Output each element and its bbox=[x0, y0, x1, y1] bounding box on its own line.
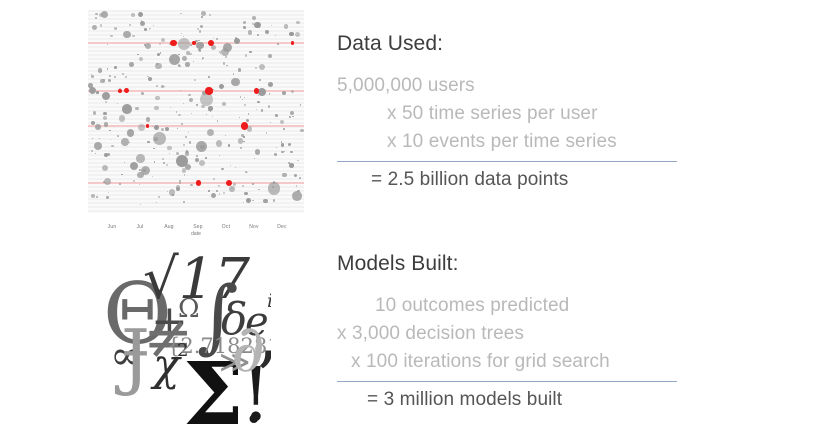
scatter-point bbox=[117, 103, 118, 104]
scatter-point bbox=[238, 138, 243, 143]
scatter-point bbox=[109, 75, 111, 77]
dot-symbol-glyph: • bbox=[245, 406, 263, 436]
scatter-point bbox=[105, 101, 107, 103]
scatter-point bbox=[189, 141, 192, 144]
scatter-point bbox=[161, 38, 165, 42]
scatter-point bbox=[244, 192, 248, 196]
scatter-point bbox=[186, 51, 190, 55]
scatter-point bbox=[289, 32, 293, 36]
data-used-sum-rule bbox=[337, 161, 677, 162]
scatter-point bbox=[166, 164, 168, 166]
models-built-total: = 3 million models built bbox=[337, 386, 677, 414]
axis-tick-label: Oct bbox=[222, 224, 230, 230]
scatter-point-anomaly bbox=[170, 40, 176, 46]
axis-tick-label: Jun bbox=[108, 224, 117, 230]
scatter-point bbox=[219, 155, 220, 156]
scatter-point bbox=[257, 101, 259, 103]
scatter-point bbox=[282, 91, 286, 95]
scatter-point bbox=[156, 202, 157, 203]
scatter-point bbox=[95, 124, 101, 130]
scatter-point bbox=[292, 116, 293, 117]
scatter-point bbox=[144, 28, 147, 31]
scatter-point bbox=[107, 68, 108, 69]
scatter-point bbox=[231, 78, 240, 87]
models-built-line-list: 10 outcomes predicted x 3,000 decision t… bbox=[337, 292, 677, 376]
scatter-point bbox=[181, 123, 183, 125]
scatter-point bbox=[158, 196, 160, 198]
scatter-point bbox=[129, 62, 134, 67]
scatter-point bbox=[91, 150, 93, 152]
scatter-point bbox=[107, 44, 108, 45]
scatter-point bbox=[117, 135, 119, 137]
scatter-point bbox=[282, 173, 287, 178]
scatter-point bbox=[258, 88, 266, 96]
scatter-point bbox=[213, 178, 215, 180]
scatter-point bbox=[247, 172, 248, 173]
scatter-point bbox=[101, 11, 109, 19]
scatter-point bbox=[225, 56, 227, 58]
scatter-point bbox=[200, 25, 204, 29]
scatter-point bbox=[176, 111, 177, 112]
scatter-point bbox=[229, 186, 235, 192]
scatter-point bbox=[185, 62, 190, 67]
scatter-point-anomaly bbox=[208, 40, 214, 46]
scatter-point bbox=[275, 114, 278, 117]
scatter-point bbox=[180, 13, 181, 14]
scatter-point bbox=[159, 43, 161, 45]
scatter-point bbox=[233, 73, 235, 75]
scatter-point bbox=[201, 16, 203, 18]
scatter-point bbox=[228, 144, 231, 147]
scatter-point-anomaly bbox=[209, 89, 213, 93]
calc-line: 10 outcomes predicted bbox=[337, 292, 677, 320]
scatter-point bbox=[176, 152, 179, 155]
scatter-point bbox=[119, 115, 126, 122]
scatter-point bbox=[216, 190, 217, 191]
models-built-title: Models Built: bbox=[337, 252, 677, 276]
j-bar-symbol-glyph: Ɉ bbox=[121, 320, 150, 392]
scatter-point bbox=[114, 76, 116, 78]
calc-line: x 3,000 decision trees bbox=[337, 320, 677, 348]
scatter-point bbox=[196, 141, 207, 152]
scatter-point bbox=[272, 186, 274, 188]
scatter-point bbox=[102, 92, 110, 100]
scatter-point bbox=[208, 76, 210, 78]
scatter-point bbox=[198, 49, 200, 51]
scatter-point bbox=[119, 183, 121, 185]
i-pi-exponent-glyph: iπ bbox=[267, 292, 271, 311]
axis-tick-label: Nov bbox=[249, 224, 259, 230]
scatter-highlight-row bbox=[88, 125, 304, 127]
scatter-point bbox=[218, 185, 220, 187]
scatter-point bbox=[108, 192, 109, 193]
calc-line: x 100 iterations for grid search bbox=[337, 348, 677, 376]
scatter-point bbox=[276, 147, 277, 148]
scatter-point-anomaly bbox=[196, 180, 201, 185]
calc-line: x 10 events per time series bbox=[337, 128, 677, 156]
scatter-point bbox=[300, 129, 304, 133]
scatter-point bbox=[296, 21, 300, 25]
scatter-point bbox=[98, 68, 102, 72]
scatter-point bbox=[183, 201, 185, 203]
scatter-point bbox=[217, 120, 218, 121]
scatter-point bbox=[268, 105, 270, 107]
scatter-point bbox=[281, 143, 284, 146]
scatter-point bbox=[178, 64, 179, 65]
scatter-point bbox=[288, 162, 290, 164]
scatter-point bbox=[271, 25, 272, 26]
scatter-point bbox=[143, 169, 146, 172]
scatter-point bbox=[176, 187, 180, 191]
scatter-point bbox=[155, 96, 160, 101]
scatter-point bbox=[212, 116, 213, 117]
scatter-point bbox=[190, 184, 193, 187]
scatter-point bbox=[249, 51, 252, 54]
scatter-point bbox=[96, 91, 99, 94]
scatter-point bbox=[266, 132, 267, 133]
scatter-point bbox=[242, 185, 244, 187]
scatter-point bbox=[201, 11, 206, 16]
scatter-point bbox=[292, 191, 302, 201]
scatter-point bbox=[182, 56, 187, 61]
scatter-point bbox=[154, 161, 155, 162]
scatter-point bbox=[136, 154, 144, 162]
scatter-point bbox=[184, 174, 186, 176]
scatter-point bbox=[132, 35, 135, 38]
scatter-point bbox=[295, 32, 300, 37]
time-series-scatter-thumbnail bbox=[88, 10, 304, 213]
data-used-title: Data Used: bbox=[337, 32, 677, 56]
scatter-point bbox=[141, 92, 144, 95]
scatter-point bbox=[221, 48, 229, 56]
data-used-line-list: 5,000,000 users x 50 time series per use… bbox=[337, 72, 677, 156]
scatter-point bbox=[103, 116, 107, 120]
axis-tick-label: Sep bbox=[193, 224, 203, 230]
scatter-point bbox=[205, 157, 207, 159]
scatter-point bbox=[122, 73, 124, 75]
scatter-x-axis: Jun Jul Aug Sep Oct Nov Dec date bbox=[88, 224, 304, 246]
scatter-point bbox=[196, 155, 198, 157]
scatter-point bbox=[221, 168, 224, 171]
scatter-point bbox=[167, 146, 172, 151]
calc-line: 5,000,000 users bbox=[337, 72, 677, 100]
models-built-sum-rule bbox=[337, 381, 677, 382]
scatter-point bbox=[129, 24, 131, 26]
scatter-point-anomaly bbox=[241, 122, 249, 130]
scatter-point bbox=[138, 124, 145, 131]
scatter-point-anomaly bbox=[192, 41, 196, 45]
scatter-point bbox=[299, 177, 301, 179]
scatter-point bbox=[178, 114, 180, 116]
scatter-point bbox=[148, 77, 152, 81]
scatter-point bbox=[268, 82, 273, 87]
calc-line: x 50 time series per user bbox=[337, 100, 677, 128]
data-used-block: Data Used: 5,000,000 users x 50 time ser… bbox=[337, 32, 677, 194]
scatter-point bbox=[268, 182, 281, 195]
scatter-point bbox=[284, 24, 289, 29]
scatter-point bbox=[265, 30, 269, 34]
axis-tick-label: Dec bbox=[277, 224, 287, 230]
scatter-point bbox=[146, 117, 151, 122]
scatter-point-anomaly bbox=[291, 41, 294, 44]
scatter-point bbox=[223, 62, 226, 65]
scatter-point bbox=[123, 31, 130, 38]
scatter-point bbox=[154, 125, 159, 130]
scatter-point bbox=[94, 142, 102, 150]
scatter-point bbox=[296, 185, 298, 187]
scatter-point bbox=[178, 38, 190, 50]
scatter-point bbox=[196, 104, 197, 105]
scatter-point bbox=[261, 109, 264, 112]
scatter-point bbox=[291, 90, 294, 93]
scatter-point-anomaly bbox=[254, 88, 260, 94]
scatter-point bbox=[208, 190, 210, 192]
axis-title-date: date bbox=[191, 231, 201, 237]
scatter-point bbox=[290, 151, 292, 153]
scatter-point bbox=[133, 180, 134, 181]
data-used-total: = 2.5 billion data points bbox=[337, 166, 677, 194]
scatter-point bbox=[122, 104, 132, 114]
slide-canvas: Jun Jul Aug Sep Oct Nov Dec date Θ √17 +… bbox=[0, 0, 820, 446]
scatter-point bbox=[222, 102, 226, 106]
scatter-point bbox=[202, 58, 204, 60]
scatter-point bbox=[188, 94, 190, 96]
scatter-point bbox=[109, 130, 110, 131]
scatter-point bbox=[202, 44, 204, 46]
scatter-point bbox=[252, 200, 254, 202]
scatter-point bbox=[110, 35, 112, 37]
axis-tick-label: Jul bbox=[137, 224, 144, 230]
scatter-point bbox=[185, 136, 187, 138]
models-built-block: Models Built: 10 outcomes predicted x 3,… bbox=[337, 252, 677, 414]
math-symbols-collage-thumbnail: Θ √17 + Ω ∫ δ e iπ ∞ ≠ χ 2 Σ ! {2.718281… bbox=[105, 250, 271, 446]
scatter-point bbox=[258, 189, 260, 191]
scatter-point bbox=[100, 24, 103, 27]
scatter-point bbox=[207, 129, 214, 136]
axis-tick-label: Aug bbox=[164, 224, 174, 230]
scatter-point bbox=[95, 17, 97, 19]
scatter-point bbox=[152, 126, 153, 127]
scatter-point bbox=[169, 189, 176, 196]
scatter-point bbox=[121, 138, 129, 146]
scatter-point bbox=[104, 122, 108, 126]
